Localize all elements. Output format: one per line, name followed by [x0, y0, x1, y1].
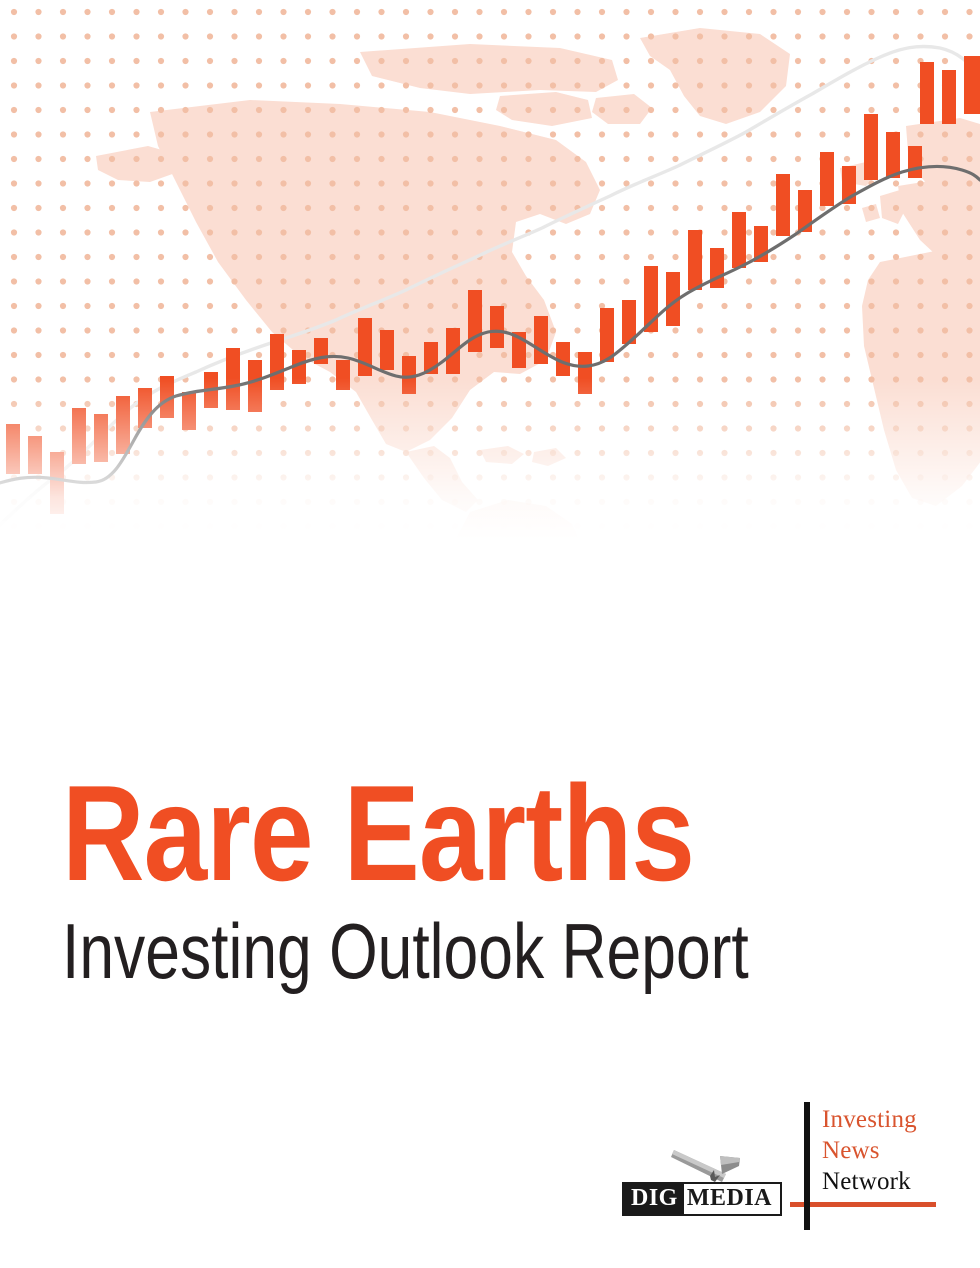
dig-media-logo: DIG MEDIA	[622, 1144, 782, 1216]
footer-logo-group: DIG MEDIA Investing News Network	[614, 1098, 944, 1238]
inn-vertical-rule	[804, 1102, 810, 1230]
dig-media-word-dig: DIG	[624, 1184, 684, 1214]
investing-news-network-logo: Investing News Network	[790, 1098, 940, 1238]
pickaxe-icon	[670, 1144, 744, 1184]
title-block: Rare Earths Investing Outlook Report	[62, 770, 922, 990]
inn-horizontal-rule	[790, 1202, 936, 1207]
cover-hero-graphic	[0, 0, 980, 540]
inn-line-news: News	[822, 1135, 917, 1166]
dig-media-wordmark: DIG MEDIA	[622, 1182, 782, 1216]
page-subtitle: Investing Outlook Report	[62, 912, 750, 990]
inn-wordmark: Investing News Network	[822, 1104, 917, 1197]
inn-line-network: Network	[822, 1166, 917, 1197]
dig-media-word-media: MEDIA	[684, 1184, 780, 1214]
inn-line-investing: Investing	[822, 1104, 917, 1135]
page-title: Rare Earths	[62, 770, 784, 898]
bottom-fade-overlay	[0, 0, 980, 540]
